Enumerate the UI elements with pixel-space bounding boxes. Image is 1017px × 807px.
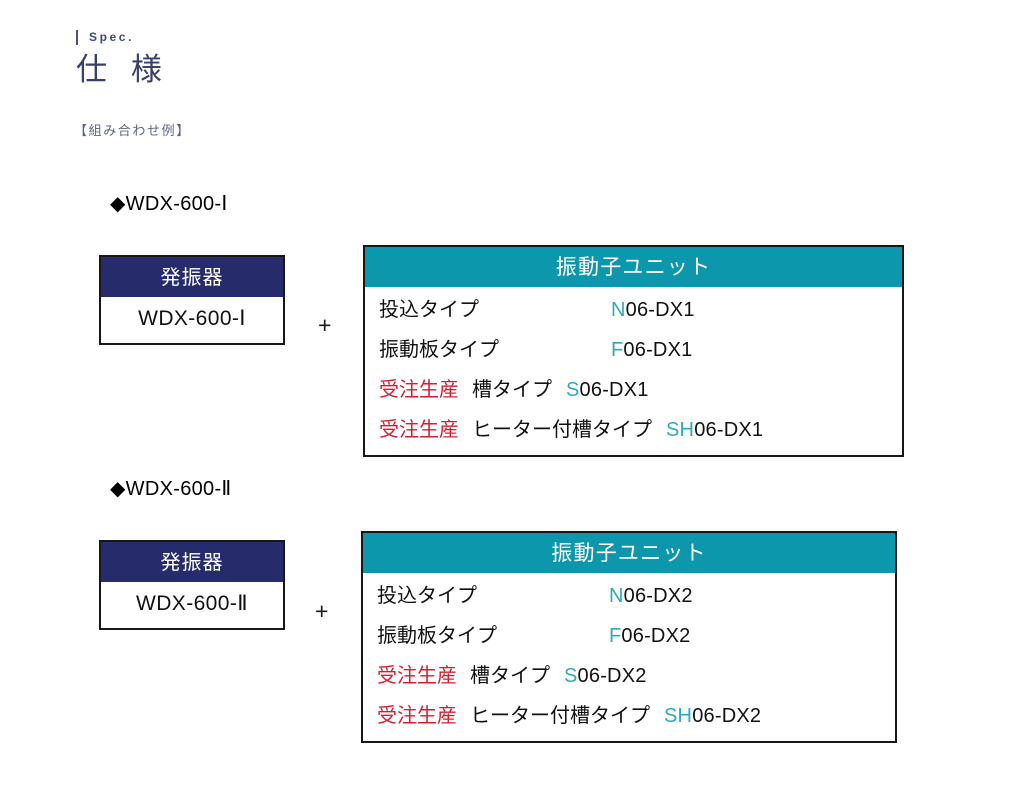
made-to-order-badge: 受注生産 — [379, 413, 459, 442]
row-model-code: N06-DX2 — [609, 585, 693, 608]
row-type-name: ヒーター付槽タイプ — [470, 699, 650, 728]
row-model-prefix: N — [609, 585, 624, 607]
row-model-code: S06-DX1 — [566, 379, 649, 402]
page-title: 仕 様 — [76, 53, 169, 89]
row-model-prefix: SH — [666, 419, 694, 441]
table-row: 投込タイプ N06-DX1 — [365, 293, 902, 333]
row-type-name: 振動板タイプ — [377, 619, 609, 648]
eyebrow-label: Spec. — [89, 31, 134, 43]
row-model-prefix: S — [564, 665, 578, 687]
row-model-code: F06-DX2 — [609, 625, 690, 648]
row-model-code: N06-DX1 — [611, 299, 695, 322]
row-model-rest: 06-DX1 — [694, 419, 763, 441]
section-label: 【組み合わせ例】 — [74, 120, 191, 139]
row-model-prefix: SH — [664, 705, 692, 727]
table-row: 受注生産 ヒーター付槽タイプ SH06-DX2 — [363, 699, 895, 739]
plus-operator-2: + — [315, 600, 328, 623]
unit-table-rows-1: 投込タイプ N06-DX1 振動板タイプ F06-DX1 受注生産 槽タイプ S… — [365, 287, 902, 461]
row-type-name: 投込タイプ — [377, 579, 609, 608]
oscillator-card-2: 発振器 WDX-600-Ⅱ — [99, 540, 285, 630]
page-header: Spec. 仕 様 — [76, 28, 169, 89]
row-model-rest: 06-DX2 — [621, 625, 690, 647]
row-model-rest: 06-DX2 — [578, 665, 647, 687]
made-to-order-badge: 受注生産 — [377, 659, 457, 688]
table-row: 振動板タイプ F06-DX2 — [363, 619, 895, 659]
row-type-name: ヒーター付槽タイプ — [472, 413, 652, 442]
row-model-prefix: S — [566, 379, 580, 401]
unit-table-header-1: 振動子ユニット — [365, 247, 902, 287]
oscillator-card-1: 発振器 WDX-600-Ⅰ — [99, 255, 285, 345]
oscillator-card-header-2: 発振器 — [101, 542, 283, 582]
made-to-order-badge: 受注生産 — [377, 699, 457, 728]
table-row: 受注生産 槽タイプ S06-DX1 — [365, 373, 902, 413]
oscillator-model-2: WDX-600-Ⅱ — [101, 582, 283, 626]
row-model-code: SH06-DX1 — [666, 419, 763, 442]
row-type-name: 投込タイプ — [379, 293, 611, 322]
oscillator-model-1: WDX-600-Ⅰ — [101, 297, 283, 341]
row-model-rest: 06-DX1 — [626, 299, 695, 321]
unit-table-2: 振動子ユニット 投込タイプ N06-DX2 振動板タイプ F06-DX2 受注生… — [361, 531, 897, 743]
unit-table-rows-2: 投込タイプ N06-DX2 振動板タイプ F06-DX2 受注生産 槽タイプ S… — [363, 573, 895, 747]
combination-title-2: ◆WDX-600-Ⅱ — [110, 476, 232, 501]
row-model-prefix: F — [611, 339, 623, 361]
plus-operator-1: + — [318, 314, 331, 337]
table-row: 振動板タイプ F06-DX1 — [365, 333, 902, 373]
row-type-name: 槽タイプ — [472, 373, 552, 402]
row-model-code: F06-DX1 — [611, 339, 692, 362]
row-model-code: SH06-DX2 — [664, 705, 761, 728]
row-model-prefix: N — [611, 299, 626, 321]
eyebrow-accent-bar — [76, 30, 78, 45]
combination-title-1: ◆WDX-600-Ⅰ — [110, 191, 228, 216]
row-model-rest: 06-DX2 — [624, 585, 693, 607]
row-type-name: 振動板タイプ — [379, 333, 611, 362]
table-row: 投込タイプ N06-DX2 — [363, 579, 895, 619]
oscillator-card-header-1: 発振器 — [101, 257, 283, 297]
row-model-rest: 06-DX1 — [623, 339, 692, 361]
row-model-rest: 06-DX1 — [580, 379, 649, 401]
row-model-rest: 06-DX2 — [692, 705, 761, 727]
table-row: 受注生産 ヒーター付槽タイプ SH06-DX1 — [365, 413, 902, 453]
row-model-prefix: F — [609, 625, 621, 647]
made-to-order-badge: 受注生産 — [379, 373, 459, 402]
row-type-name: 槽タイプ — [470, 659, 550, 688]
eyebrow: Spec. — [76, 28, 169, 46]
table-row: 受注生産 槽タイプ S06-DX2 — [363, 659, 895, 699]
unit-table-header-2: 振動子ユニット — [363, 533, 895, 573]
row-model-code: S06-DX2 — [564, 665, 647, 688]
unit-table-1: 振動子ユニット 投込タイプ N06-DX1 振動板タイプ F06-DX1 受注生… — [363, 245, 904, 457]
